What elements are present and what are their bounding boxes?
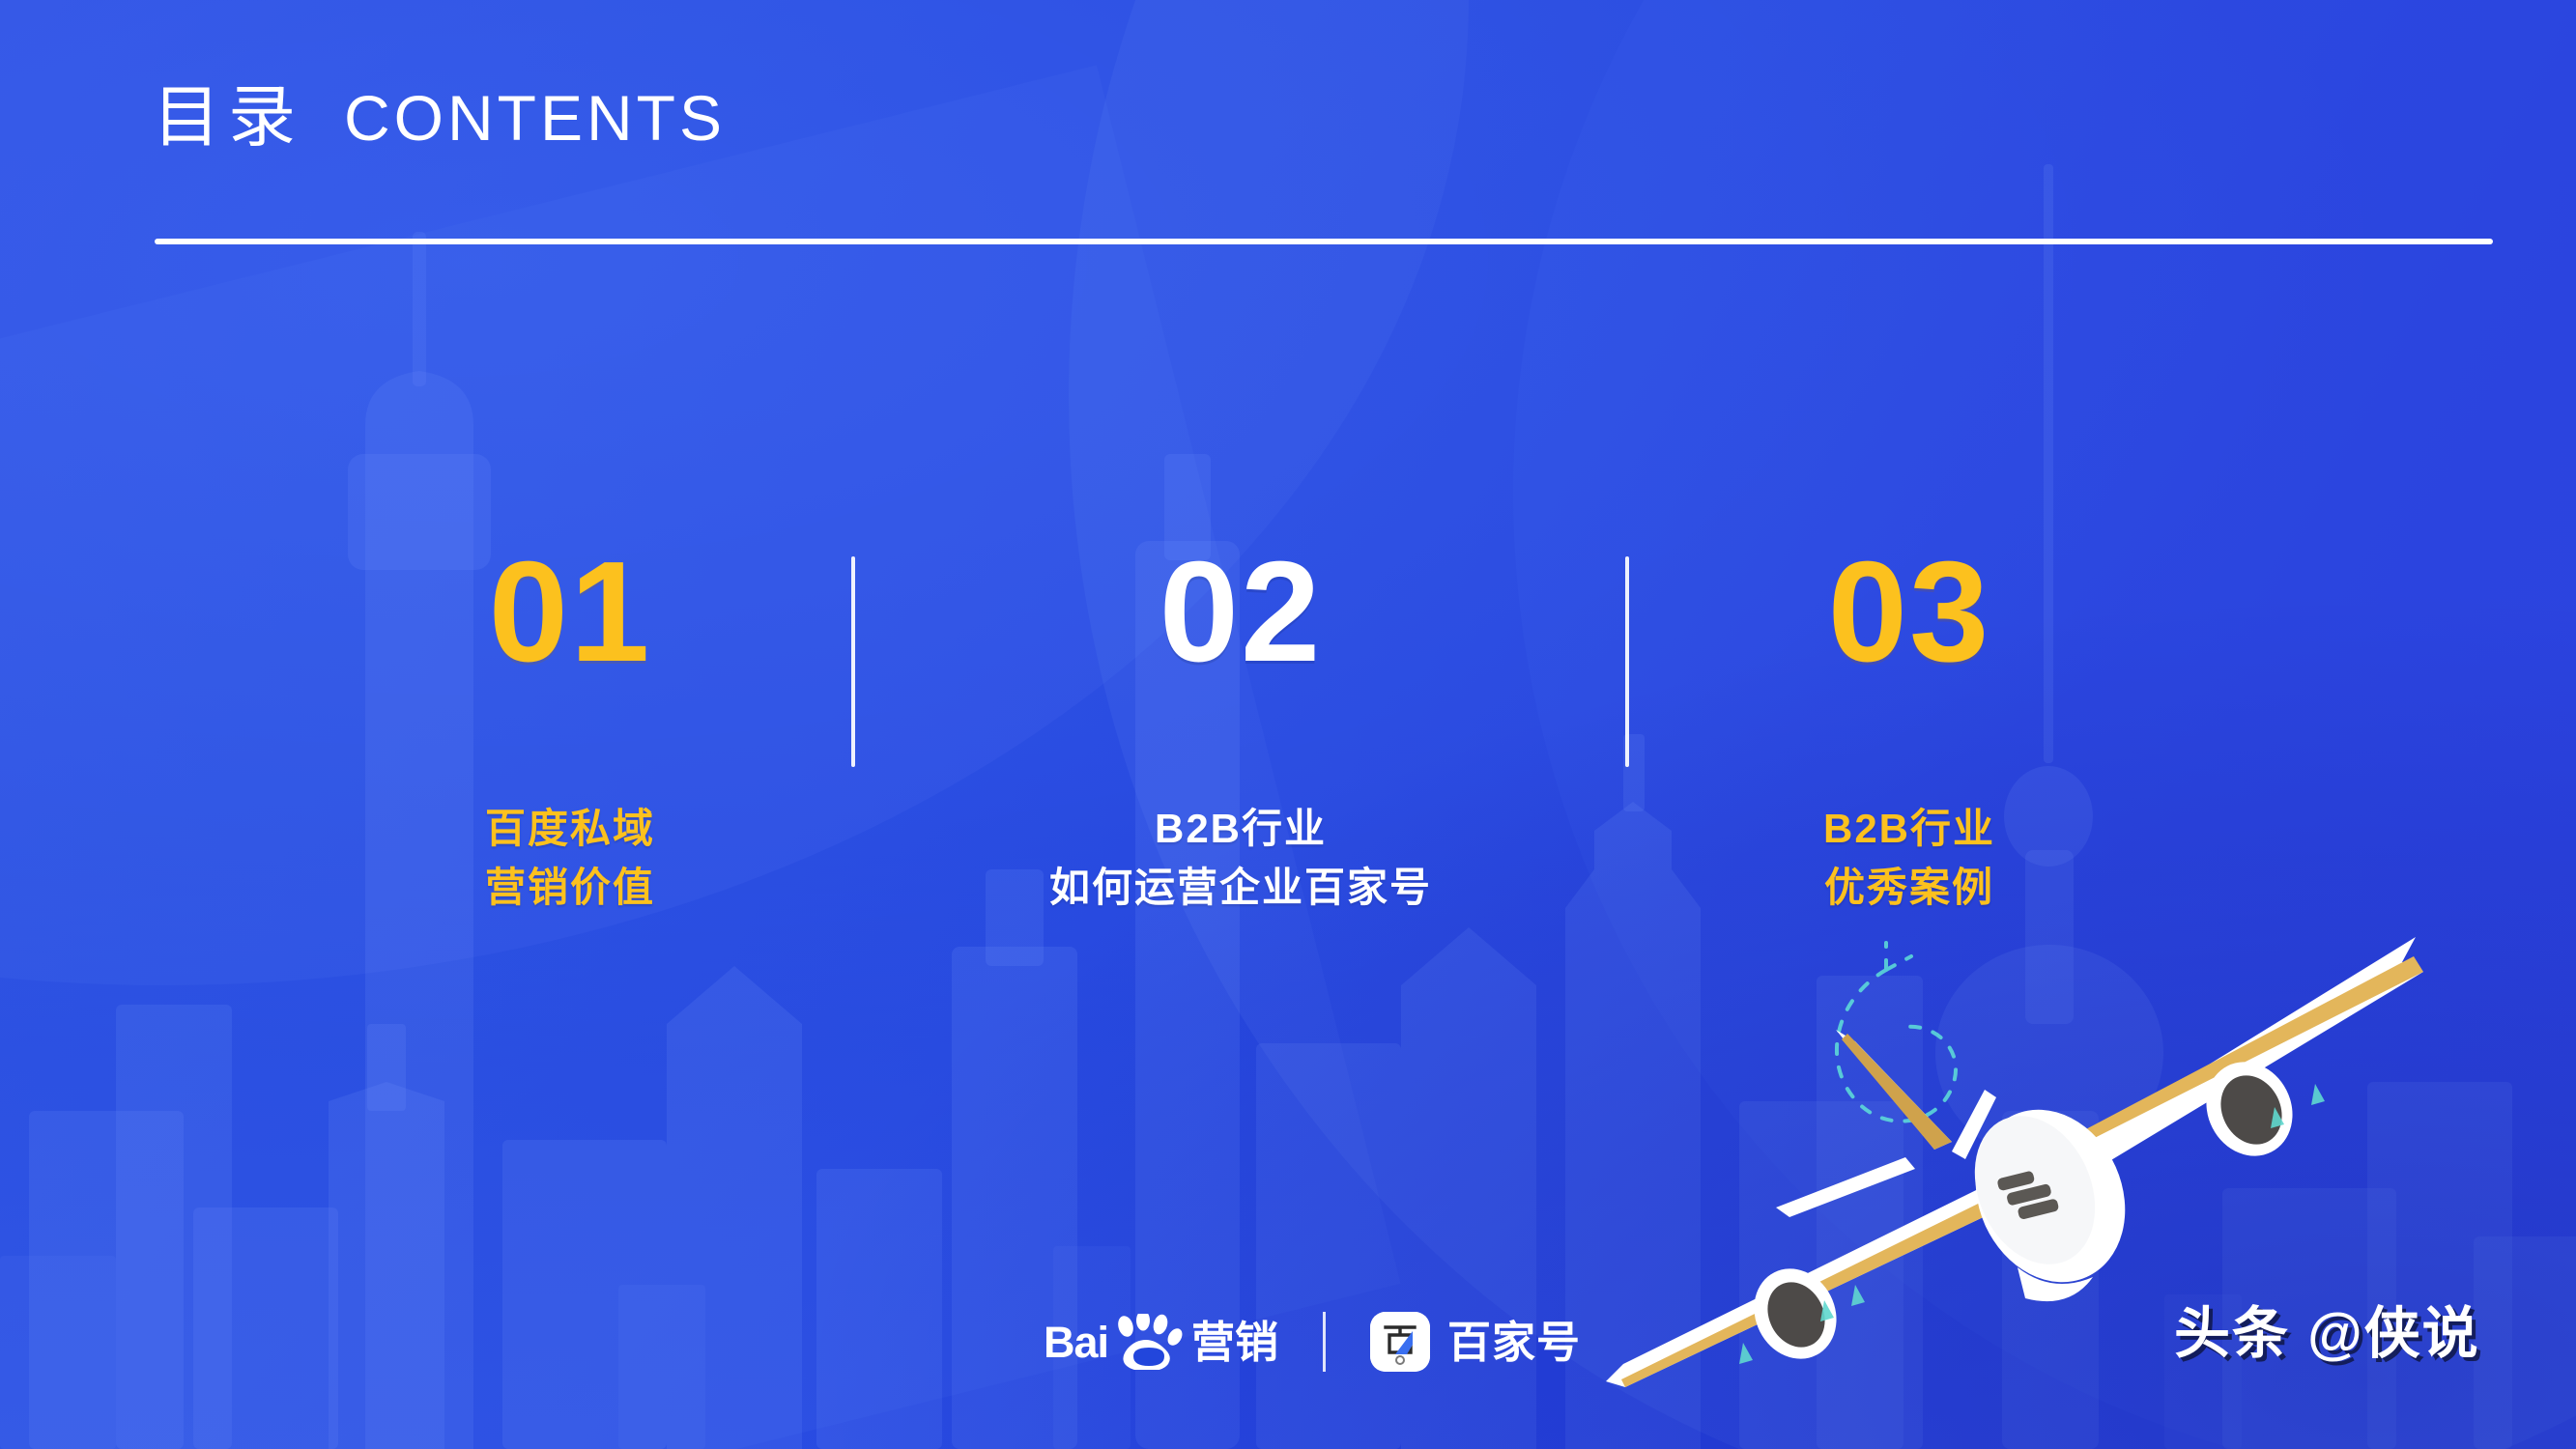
contents-item-02-number: 02 — [870, 541, 1612, 684]
page-title-cn: 目录 — [153, 83, 303, 151]
contents-item-01-label: 百度私域 营销价值 — [309, 800, 831, 918]
page-title-en: CONTENTS — [344, 86, 726, 150]
contents-item-03-number: 03 — [1648, 541, 2170, 684]
contents-item-01-label-line-2: 营销价值 — [309, 859, 831, 918]
contents-item-02[interactable]: 02 B2B行业 如何运营企业百家号 — [870, 541, 1612, 918]
contents-item-03[interactable]: 03 B2B行业 优秀案例 — [1648, 541, 2170, 918]
contents-item-02-label-line-1: B2B行业 — [870, 800, 1612, 859]
baijiahao-logo-label: 百家号 — [1447, 1321, 1581, 1364]
baidu-logo-latin: Bai — [1044, 1321, 1108, 1364]
page-title: 目录 CONTENTS — [153, 83, 726, 151]
column-divider-2 — [1625, 556, 1629, 767]
baijiahao-logo[interactable]: 百家号 — [1370, 1312, 1581, 1372]
header-divider-rule — [155, 239, 2493, 244]
baijiahao-mark-icon — [1370, 1312, 1430, 1372]
contents-item-03-label: B2B行业 优秀案例 — [1648, 800, 2170, 918]
baidu-paw-icon — [1112, 1314, 1184, 1370]
contents-item-01-number: 01 — [309, 541, 831, 684]
footer-logos: Bai 营销 百家号 — [1044, 1312, 1581, 1372]
contents-item-01-label-line-1: 百度私域 — [309, 800, 831, 859]
contents-slide: 目录 CONTENTS 01 百度私域 营销价值 02 B2B行业 如何运营企业… — [0, 0, 2576, 1449]
baidu-logo-cn: 营销 — [1191, 1321, 1278, 1364]
contents-item-02-label: B2B行业 如何运营企业百家号 — [870, 800, 1612, 918]
watermark: 头条 @侠说 — [2174, 1306, 2480, 1362]
baidu-marketing-logo[interactable]: Bai 营销 — [1044, 1314, 1278, 1370]
contents-columns: 01 百度私域 营销价值 02 B2B行业 如何运营企业百家号 03 B2B行业… — [0, 541, 2576, 1043]
contents-item-03-label-line-2: 优秀案例 — [1648, 859, 2170, 918]
contents-item-03-label-line-1: B2B行业 — [1648, 800, 2170, 859]
footer-logo-separator — [1323, 1312, 1326, 1372]
contents-item-01[interactable]: 01 百度私域 营销价值 — [309, 541, 831, 918]
column-divider-1 — [851, 556, 855, 767]
contents-item-02-label-line-2: 如何运营企业百家号 — [870, 859, 1612, 918]
